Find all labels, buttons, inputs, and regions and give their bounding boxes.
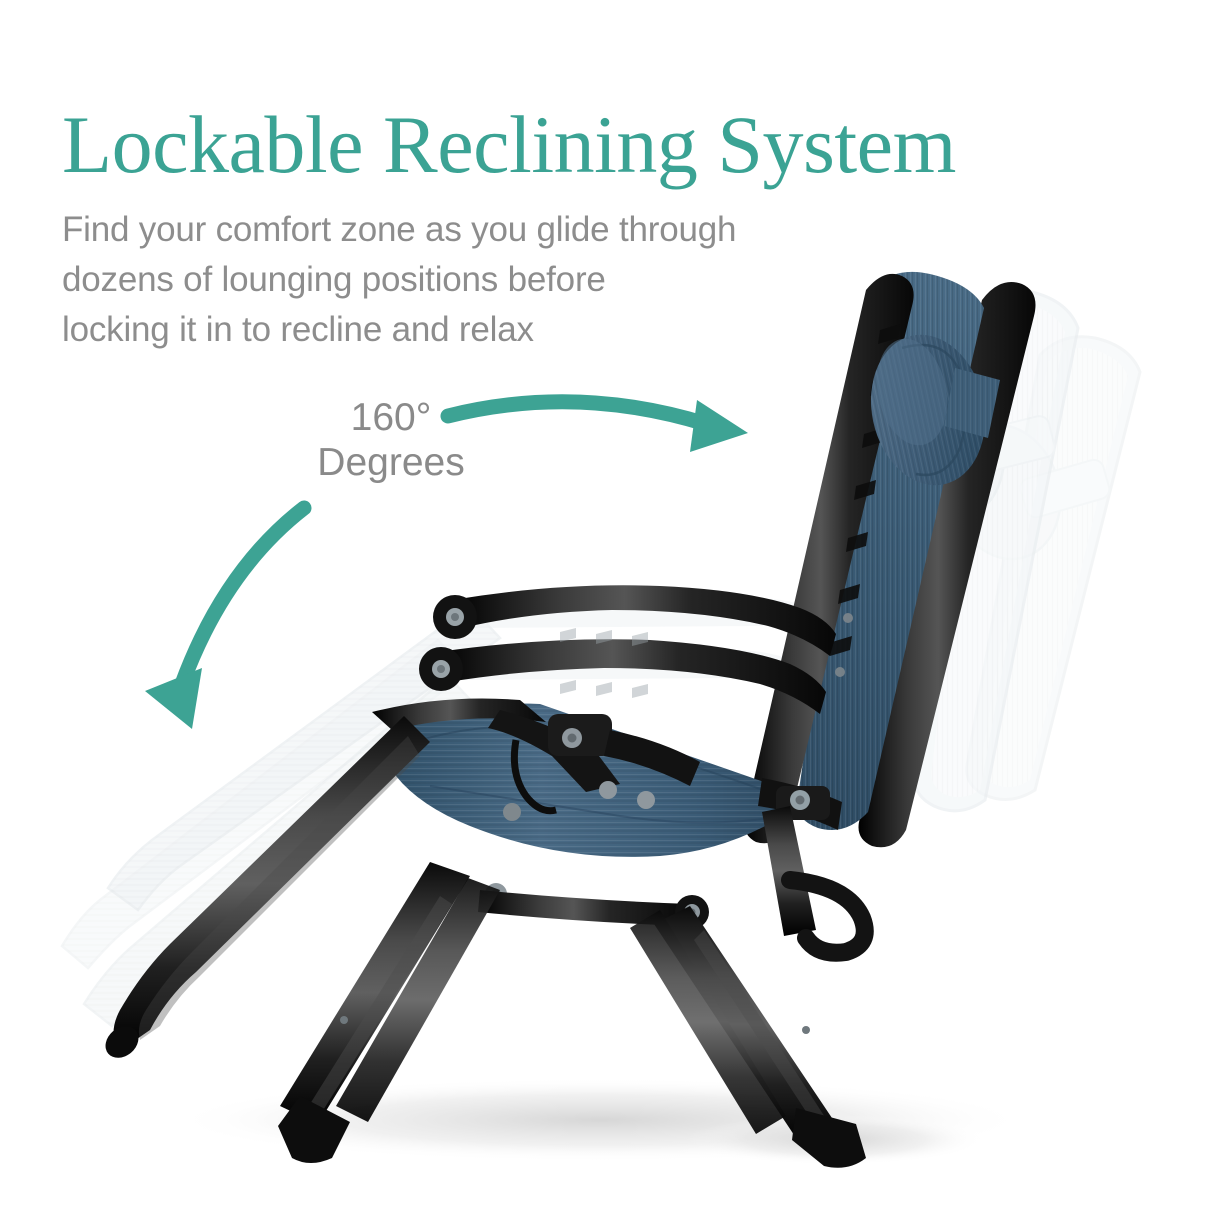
arrow-head-lower-left	[145, 668, 202, 729]
page-subtitle: Find your comfort zone as you glide thro…	[62, 205, 736, 355]
arrow-arc-lower	[182, 508, 304, 684]
page-title: Lockable Reclining System	[62, 99, 956, 191]
infographic-canvas: Lockable Reclining System Find your comf…	[0, 0, 1214, 1214]
arrow-head-upper-right	[690, 400, 748, 452]
recline-angle-label: 160° Degrees	[286, 395, 496, 485]
